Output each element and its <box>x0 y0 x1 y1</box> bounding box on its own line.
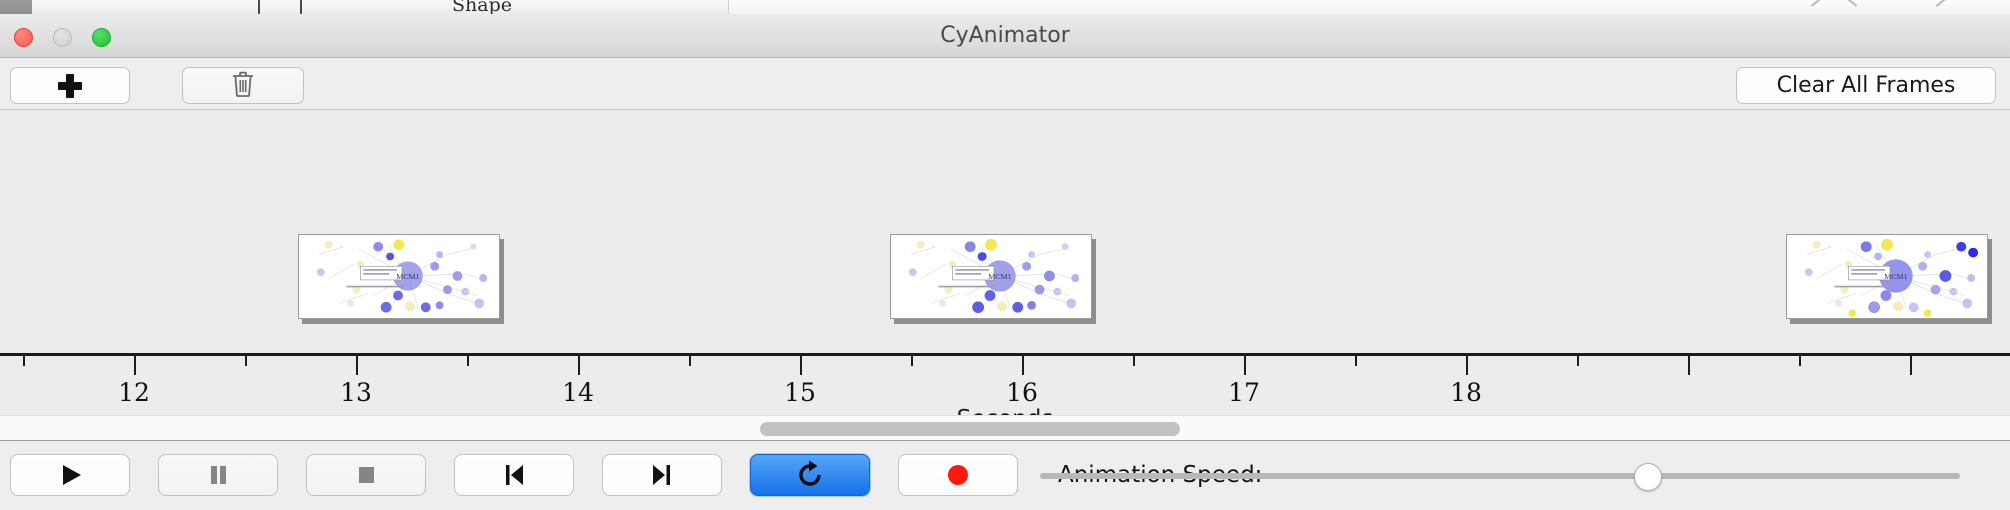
frame-thumbnail[interactable]: MCM1 <box>1786 234 1992 322</box>
bg-slash-icon <box>1936 0 1947 7</box>
delete-frame-button[interactable] <box>182 67 304 104</box>
axis-tick-minor <box>1133 353 1135 366</box>
loop-button[interactable] <box>750 454 870 496</box>
record-button[interactable] <box>898 454 1018 496</box>
background-window-strip: Shape <box>0 0 2010 14</box>
axis-tick-label: 18 <box>1450 378 1482 407</box>
bg-fragment <box>32 0 229 14</box>
skip-start-icon <box>499 460 529 490</box>
network-preview: MCM1 <box>298 234 500 319</box>
axis-tick-major <box>1466 353 1468 375</box>
axis-tick-label: 15 <box>784 378 816 407</box>
bg-tick-icon <box>300 0 302 14</box>
background-window-label: Shape <box>452 0 512 14</box>
bg-slash-icon <box>1846 0 1857 7</box>
network-preview: MCM1 <box>890 234 1092 319</box>
stop-icon <box>351 460 381 490</box>
axis-tick-label: 16 <box>1006 378 1038 407</box>
skip-end-icon <box>647 460 677 490</box>
cyanimator-window: Shape CyAnimator Clear All Frames <box>0 0 2010 510</box>
axis-tick-major <box>356 353 358 375</box>
trash-icon <box>230 70 256 102</box>
network-graph-icon: MCM1 <box>299 235 499 318</box>
axis-tick-minor <box>467 353 469 366</box>
axis-tick-label: 17 <box>1228 378 1260 407</box>
axis-tick-minor <box>245 353 247 366</box>
bg-fragment <box>0 0 33 14</box>
add-frame-button[interactable] <box>10 67 130 104</box>
axis-tick-major <box>1910 353 1912 375</box>
frame-thumbnail[interactable]: MCM1 <box>890 234 1096 322</box>
clear-all-frames-button[interactable]: Clear All Frames <box>1736 67 1996 104</box>
axis-tick-minor <box>911 353 913 366</box>
axis-tick-major <box>1244 353 1246 375</box>
record-icon <box>943 460 973 490</box>
frame-thumbnail[interactable]: MCM1 <box>298 234 504 322</box>
network-graph-icon: MCM1 <box>891 235 1091 318</box>
svg-text:MCM1: MCM1 <box>1884 272 1907 281</box>
axis-tick-label: 13 <box>340 378 372 407</box>
pause-icon <box>203 460 233 490</box>
bg-slash-icon <box>1811 0 1822 7</box>
pause-button[interactable] <box>158 454 278 496</box>
network-preview: MCM1 <box>1786 234 1988 319</box>
play-icon <box>55 460 85 490</box>
title-bar: CyAnimator <box>0 14 2010 58</box>
animation-speed-slider[interactable] <box>1040 473 1960 479</box>
axis-tick-major <box>134 353 136 375</box>
scrollbar-thumb[interactable] <box>760 422 1180 436</box>
axis-tick-label: 12 <box>118 378 150 407</box>
axis-tick-minor <box>1355 353 1357 366</box>
svg-text:MCM1: MCM1 <box>988 272 1011 281</box>
axis-tick-major <box>1022 353 1024 375</box>
axis-tick-label: 14 <box>562 378 594 407</box>
bg-fragment <box>328 0 429 14</box>
axis-tick-minor <box>1577 353 1579 366</box>
timeline-scrollbar[interactable] <box>0 415 2010 441</box>
axis-tick-major <box>1688 353 1690 375</box>
loop-icon <box>794 459 826 491</box>
axis-tick-major <box>578 353 580 375</box>
timeline-axis <box>0 353 2010 356</box>
plus-icon <box>57 73 83 99</box>
axis-tick-minor <box>1799 353 1801 366</box>
axis-tick-minor <box>689 353 691 366</box>
svg-text:MCM1: MCM1 <box>396 272 419 281</box>
network-graph-icon: MCM1 <box>1787 235 1987 318</box>
axis-title: Seconds <box>0 406 2010 415</box>
window-title: CyAnimator <box>0 14 2010 58</box>
stop-button[interactable] <box>306 454 426 496</box>
axis-tick-minor <box>23 353 25 366</box>
skip-end-button[interactable] <box>602 454 722 496</box>
animation-speed-slider-thumb[interactable] <box>1634 463 1662 491</box>
frame-toolbar: Clear All Frames <box>0 58 2010 110</box>
play-button[interactable] <box>10 454 130 496</box>
playback-toolbar: Animation Speed: <box>0 442 2010 510</box>
skip-start-button[interactable] <box>454 454 574 496</box>
bg-fragment <box>228 0 329 14</box>
timeline-panel[interactable]: MCM1 <box>0 110 2010 415</box>
bg-tick-icon <box>258 0 260 14</box>
axis-tick-major <box>800 353 802 375</box>
